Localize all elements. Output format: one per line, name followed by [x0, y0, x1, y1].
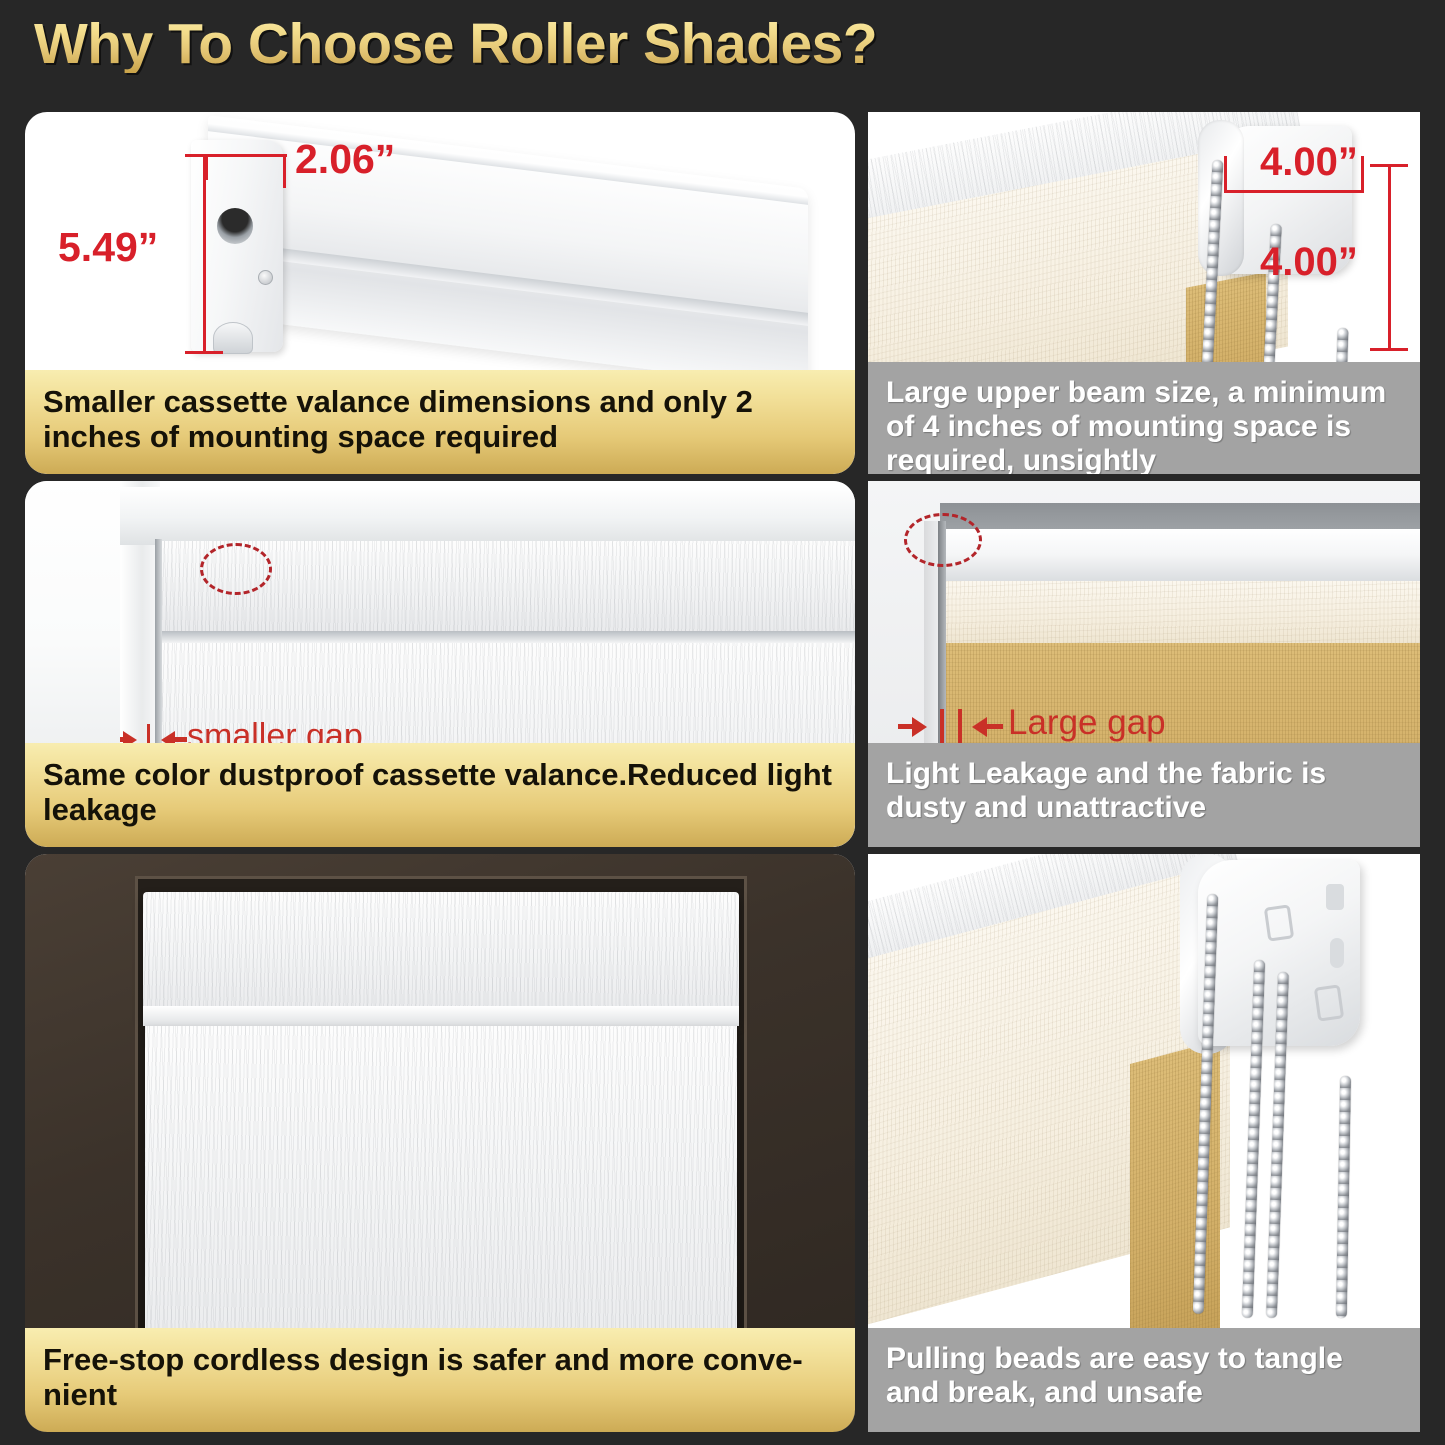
- panel-pulling-beads: Pulling beads are easy to tangle and bre…: [868, 854, 1420, 1432]
- bracket-arrow-icon-down: [1314, 984, 1344, 1021]
- gap-arrow-left-icon: [912, 717, 927, 737]
- panel-1-caption: Smaller cassette valance dimensions and …: [25, 370, 855, 474]
- large-gap-label: Large gap: [1008, 703, 1166, 743]
- panel-6-caption: Pulling beads are easy to tangle and bre…: [868, 1328, 1420, 1432]
- cream-fabric-band: [940, 581, 1420, 643]
- gap-marker-bar-1: [940, 709, 944, 743]
- panel-large-gap: Large gap Light Leakage and the fabric i…: [868, 481, 1420, 847]
- gap-highlight-circle: [904, 513, 982, 567]
- height-dimension-label: 5.49”: [58, 224, 158, 271]
- gap-arrow-left-stem: [898, 724, 914, 729]
- head-rail: [940, 529, 1420, 585]
- panel-cordless-design: Free-stop cordless design is safer and m…: [25, 854, 855, 1432]
- title-bar: Why To Choose Roller Shades?: [0, 0, 1445, 100]
- page-title: Why To Choose Roller Shades?: [34, 16, 877, 73]
- panel-5-caption: Free-stop cordless design is safer and m…: [25, 1328, 855, 1432]
- panel-2-caption: Large upper beam size, a minimum of 4 in…: [868, 362, 1420, 474]
- width-dim-tick-right: [283, 154, 286, 188]
- panel-smaller-cassette: 2.06” 5.49” Smaller cassette valance dim…: [25, 112, 855, 474]
- gap-highlight-circle: [200, 543, 272, 595]
- valance-slot-icon: [217, 208, 253, 244]
- beam-height-label: 4.00”: [1260, 240, 1358, 285]
- valance-screw-icon: [258, 270, 273, 285]
- bracket-slot-2: [1330, 938, 1344, 968]
- beam-width-tick-left: [1224, 156, 1227, 192]
- window-head-trim: [120, 487, 855, 545]
- roller-shade-fabric: [145, 1026, 737, 1374]
- comparison-grid: 2.06” 5.49” Smaller cassette valance dim…: [25, 112, 1420, 1432]
- height-dim-tick-top: [185, 154, 223, 157]
- bracket-arrow-icon-up: [1264, 904, 1294, 941]
- panel-4-caption: Light Leakage and the fabric is dusty an…: [868, 743, 1420, 847]
- height-dim-tick-bottom: [185, 351, 223, 354]
- gap-arrow-right-icon: [972, 717, 987, 737]
- valance-lip: [143, 1006, 739, 1026]
- gap-arrow-right-stem: [987, 724, 1003, 729]
- panel-large-beam: 4.00” 4.00” Large upper beam size, a min…: [868, 112, 1420, 474]
- beam-width-line: [1224, 190, 1364, 193]
- panel-smaller-gap: smaller gap Same color dustproof cassett…: [25, 481, 855, 847]
- panel-3-caption: Same color dustproof cassette valance.Re…: [25, 743, 855, 847]
- cassette-divider: [158, 631, 855, 643]
- gap-marker-bar-2: [958, 709, 962, 743]
- height-dim-line: [203, 154, 206, 354]
- beam-width-label: 4.00”: [1260, 140, 1358, 185]
- width-dimension-label: 2.06”: [295, 136, 395, 183]
- cassette-valance: [143, 892, 739, 1020]
- bracket-slot-1: [1326, 884, 1344, 910]
- beam-width-tick-right: [1361, 156, 1364, 192]
- gap-arrow-left-stem: [120, 737, 132, 742]
- beam-height-tick-bottom: [1370, 348, 1408, 351]
- gap-arrow-right-stem: [175, 737, 187, 742]
- beam-height-line: [1388, 164, 1391, 350]
- valance-knob-icon: [213, 322, 253, 354]
- beam-height-tick-top: [1370, 164, 1408, 167]
